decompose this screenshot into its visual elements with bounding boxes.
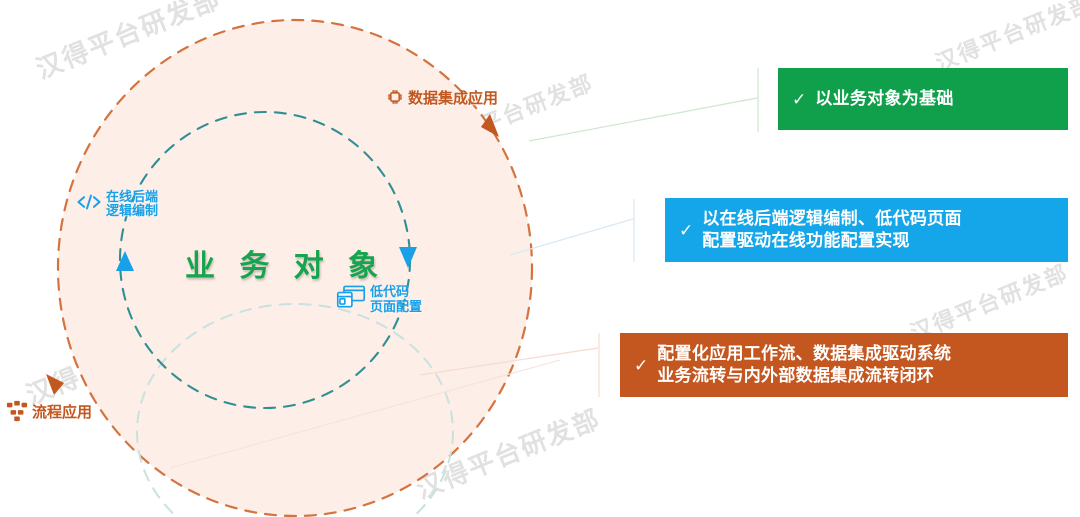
- check-icon: ✓: [665, 222, 702, 239]
- node-label-line2: 逻辑编制: [106, 204, 158, 218]
- callout-foundation[interactable]: ✓ 以业务对象为基础: [778, 68, 1068, 130]
- node-low-code[interactable]: 低代码 页面配置: [336, 284, 422, 315]
- callout-text: 以业务对象为基础: [815, 88, 963, 110]
- page-title: 业 务 对 象: [185, 241, 386, 285]
- chip-icon: [386, 88, 404, 111]
- callout-line1: 以在线后端逻辑编制、低代码页面: [702, 209, 962, 228]
- callout-workflow-integration[interactable]: ✓ 配置化应用工作流、数据集成驱动系统 业务流转与内外部数据集成流转闭环: [620, 333, 1068, 397]
- callout-online-config[interactable]: ✓ 以在线后端逻辑编制、低代码页面 配置驱动在线功能配置实现: [665, 198, 1068, 262]
- leader-line-orange: [420, 348, 598, 375]
- callout-text: 以在线后端逻辑编制、低代码页面 配置驱动在线功能配置实现: [702, 208, 972, 252]
- window-layout-icon: [336, 284, 366, 315]
- callout-text: 配置化应用工作流、数据集成驱动系统 业务流转与内外部数据集成流转闭环: [657, 343, 961, 387]
- check-icon: ✓: [620, 357, 657, 374]
- node-label-line1: 在线后端: [106, 190, 158, 204]
- check-icon: ✓: [778, 91, 815, 108]
- node-label: 流程应用: [32, 405, 92, 421]
- node-label: 数据集成应用: [408, 91, 498, 107]
- callout-line2: 配置驱动在线功能配置实现: [702, 231, 910, 250]
- node-label-line2: 页面配置: [370, 300, 422, 314]
- node-process-app[interactable]: 流程应用: [6, 400, 92, 427]
- node-label-line1: 低代码: [370, 285, 422, 299]
- callout-line2: 业务流转与内外部数据集成流转闭环: [657, 366, 934, 385]
- workflow-nodes-icon: [6, 400, 28, 427]
- code-brackets-icon: [76, 191, 102, 218]
- diagram-canvas: 汉得平台研发部 汉得平台研发部 汉得平台研发部 汉得平台研发部 汉得平台研发部 …: [0, 0, 1080, 517]
- leader-line-green: [529, 98, 757, 141]
- callout-line1: 以业务对象为基础: [815, 89, 953, 108]
- node-online-backend[interactable]: 在线后端 逻辑编制: [76, 190, 158, 218]
- leader-line-blue: [510, 219, 633, 255]
- decor-line-a: [170, 360, 560, 468]
- node-data-integration[interactable]: 数据集成应用: [386, 88, 498, 111]
- callout-line1: 配置化应用工作流、数据集成驱动系统: [657, 344, 951, 363]
